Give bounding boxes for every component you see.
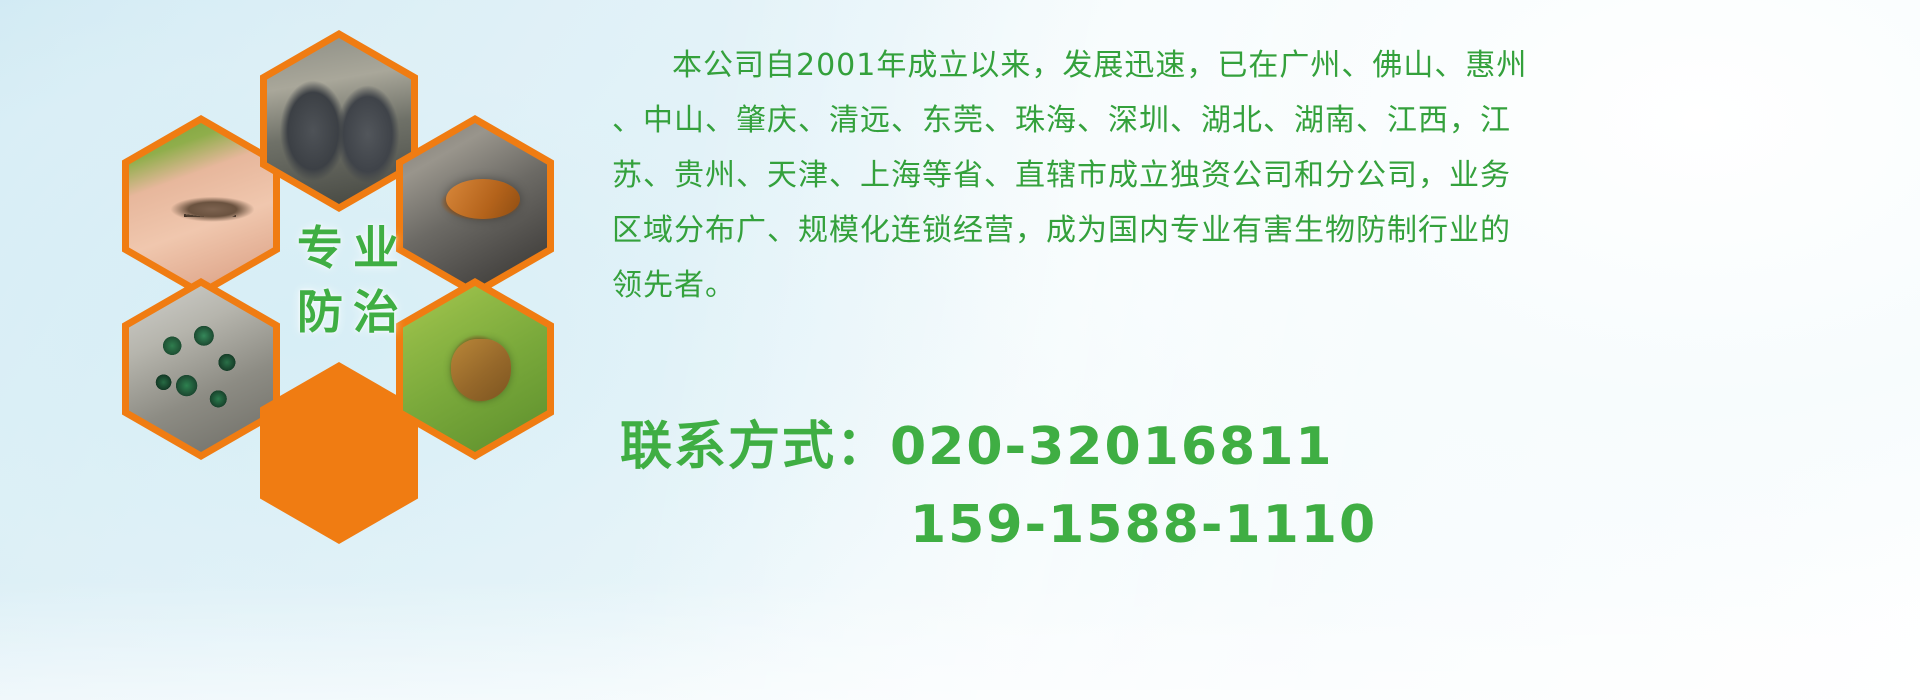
ant-photo (267, 370, 411, 536)
intro-line-5: 领先者。 (612, 258, 1892, 313)
hexagon-mosquito (122, 115, 280, 297)
contact-block: 联系方式：020-32016811 159-1588-1110 (620, 404, 1880, 555)
flies-photo (129, 286, 273, 452)
promo-banner: 专业 防治 本公司自2001年成立以来，发展迅速，已在广州、佛山、惠州 、中山、… (0, 0, 1920, 700)
logo-slogan: 专业 防治 (264, 185, 432, 375)
logo-word-1: 专业 (287, 225, 409, 271)
rats-photo (267, 38, 411, 204)
logo-word-2: 防治 (287, 289, 409, 335)
contact-phone-landline[interactable]: 联系方式：020-32016811 (620, 404, 1880, 479)
hexagon-ant (260, 362, 418, 544)
company-intro: 本公司自2001年成立以来，发展迅速，已在广州、佛山、惠州 、中山、肇庆、清远、… (612, 38, 1892, 313)
contact-phone-mobile[interactable]: 159-1588-1110 (910, 495, 1880, 555)
intro-line-3: 苏、贵州、天津、上海等省、直辖市成立独资公司和分公司，业务 (612, 148, 1892, 203)
hexagon-logo-cluster: 专业 防治 (88, 10, 588, 550)
intro-line-4: 区域分布广、规模化连锁经营，成为国内专业有害生物防制行业的 (612, 203, 1892, 258)
intro-line-2: 、中山、肇庆、清远、东莞、珠海、深圳、湖北、湖南、江西，江 (612, 93, 1892, 148)
hexagon-flies (122, 278, 280, 460)
mosquito-photo (129, 123, 273, 289)
bottom-fade (0, 580, 1920, 700)
intro-line-1: 本公司自2001年成立以来，发展迅速，已在广州、佛山、惠州 (612, 38, 1892, 93)
